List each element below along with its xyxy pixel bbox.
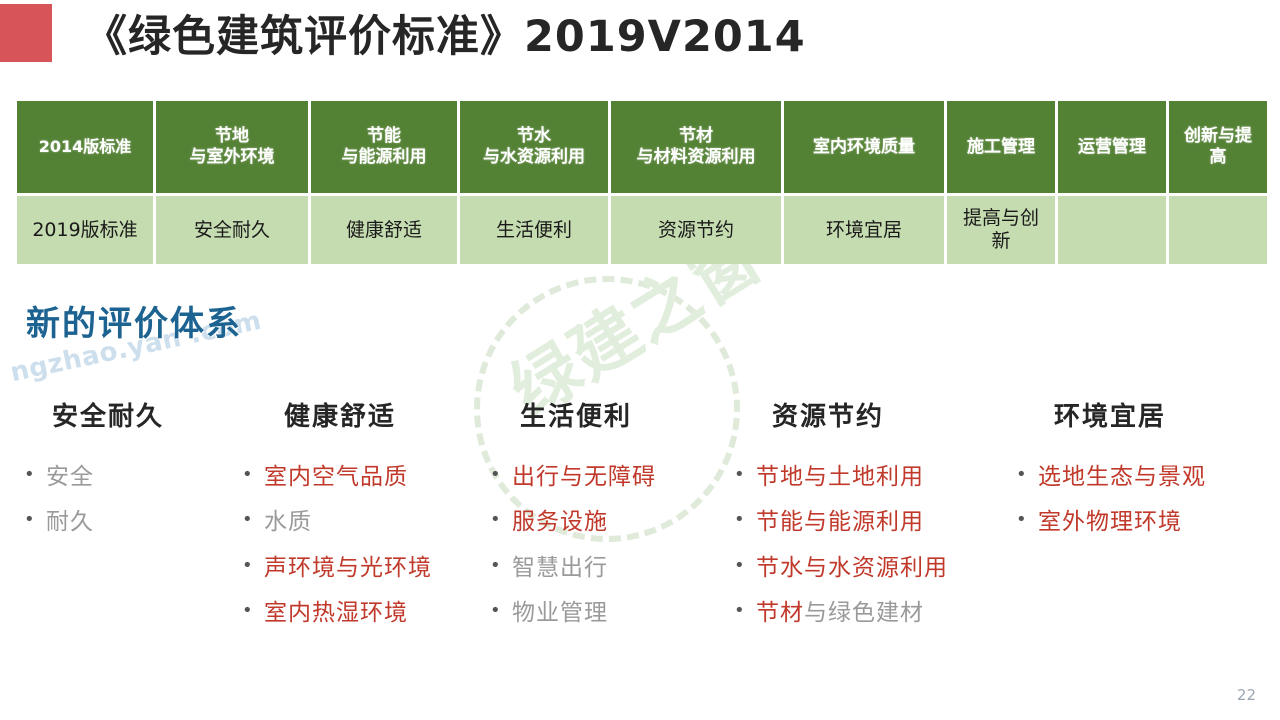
- list-item-label: 安全: [46, 465, 94, 490]
- table-body-cell: 资源节约: [611, 196, 781, 264]
- cell-line-1: 创新与提: [1172, 126, 1264, 147]
- category-title: 资源节约: [734, 396, 1016, 433]
- category-columns: 安全耐久 安全 耐久 健康舒适 室内空气品质: [24, 396, 1264, 646]
- title-accent-block: [0, 4, 52, 62]
- category-column-health: 健康舒适 室内空气品质 水质 声环境与光环境 室内热湿环境: [242, 396, 490, 646]
- list-item: 声环境与光环境: [242, 556, 490, 581]
- list-item-label: 耐久: [46, 510, 94, 535]
- list-item-label: 室内空气品质: [264, 465, 408, 490]
- category-item-list: 安全 耐久: [24, 465, 242, 536]
- list-item: 节能与能源利用: [734, 510, 1016, 535]
- list-item-label-highlight: 节材: [756, 600, 804, 626]
- list-item: 智慧出行: [490, 556, 734, 581]
- table-header-cell: 节能 与能源利用: [311, 101, 457, 193]
- table-header-cell: 创新与提 高: [1169, 101, 1267, 193]
- category-item-list: 节地与土地利用 节能与能源利用 节水与水资源利用 节材与绿色建材: [734, 465, 1016, 626]
- slide-canvas: 绿建之窗 ngzhao.yan .com 《绿色建筑评价标准》2019V2014…: [0, 0, 1280, 720]
- bullet-icon: [242, 466, 264, 484]
- list-item-label: 出行与无障碍: [512, 465, 656, 490]
- table-header-cell: 节水 与水资源利用: [460, 101, 608, 193]
- bullet-icon: [734, 511, 756, 529]
- bullet-icon: [490, 466, 512, 484]
- table-header-cell: 施工管理: [947, 101, 1055, 193]
- section-heading: 新的评价体系: [26, 296, 242, 345]
- category-title: 健康舒适: [242, 396, 490, 433]
- bullet-icon: [242, 602, 264, 620]
- table-body-cell: [1058, 196, 1166, 264]
- cell-line-1: 环境宜居: [787, 219, 941, 242]
- list-item: 室外物理环境: [1016, 510, 1264, 535]
- list-item-label: 物业管理: [512, 601, 608, 626]
- list-item: 安全: [24, 465, 242, 490]
- list-item: 节材与绿色建材: [734, 601, 1016, 626]
- cell-line-2: 与室外环境: [159, 147, 305, 168]
- list-item-label: 室内热湿环境: [264, 601, 408, 626]
- bullet-icon: [24, 511, 46, 529]
- table-header-cell: 运营管理: [1058, 101, 1166, 193]
- table-body-cell: 提高与创 新: [947, 196, 1055, 264]
- list-item: 服务设施: [490, 510, 734, 535]
- table-body-cell: 生活便利: [460, 196, 608, 264]
- list-item-label: 节能与能源利用: [756, 510, 924, 535]
- table-header-cell: 节材 与材料资源利用: [611, 101, 781, 193]
- page-title: 《绿色建筑评价标准》2019V2014: [84, 2, 806, 64]
- table-body-cell: 健康舒适: [311, 196, 457, 264]
- table-body-cell: [1169, 196, 1267, 264]
- cell-line-2: 与能源利用: [314, 147, 454, 168]
- table-row-body-2019: 2019版标准 安全耐久 健康舒适 生活便利 资源节约: [17, 196, 1267, 264]
- cell-line-2: 高: [1172, 147, 1264, 168]
- table-row-header-2014: 2014版标准 节地 与室外环境 节能 与能源利用 节水 与水资源利用 节材: [17, 101, 1267, 193]
- category-title: 环境宜居: [1016, 396, 1264, 433]
- bullet-icon: [242, 511, 264, 529]
- category-item-list: 出行与无障碍 服务设施 智慧出行 物业管理: [490, 465, 734, 626]
- cell-line-1: 2019版标准: [20, 219, 150, 242]
- table-body-cell: 2019版标准: [17, 196, 153, 264]
- list-item-label: 节水与水资源利用: [756, 556, 948, 581]
- bullet-icon: [490, 557, 512, 575]
- list-item-label: 室外物理环境: [1038, 510, 1182, 535]
- category-title: 安全耐久: [24, 396, 242, 433]
- cell-line-2: 与水资源利用: [463, 147, 605, 168]
- list-item-label: 智慧出行: [512, 556, 608, 581]
- list-item: 出行与无障碍: [490, 465, 734, 490]
- list-item: 室内热湿环境: [242, 601, 490, 626]
- bullet-icon: [24, 466, 46, 484]
- bullet-icon: [734, 557, 756, 575]
- list-item-label: 节地与土地利用: [756, 465, 924, 490]
- list-item-label-muted: 与绿色建材: [804, 600, 924, 626]
- list-item: 选地生态与景观: [1016, 465, 1264, 490]
- cell-line-2: 新: [950, 230, 1052, 253]
- cell-line-1: 室内环境质量: [787, 137, 941, 158]
- cell-line-1: 提高与创: [950, 207, 1052, 230]
- list-item: 耐久: [24, 510, 242, 535]
- bullet-icon: [490, 602, 512, 620]
- list-item: 物业管理: [490, 601, 734, 626]
- list-item: 节地与土地利用: [734, 465, 1016, 490]
- cell-line-1: 节材: [614, 126, 778, 147]
- cell-line-1: 节地: [159, 126, 305, 147]
- category-item-list: 选地生态与景观 室外物理环境: [1016, 465, 1264, 536]
- list-item-label: 节材与绿色建材: [756, 601, 924, 626]
- cell-line-1: 安全耐久: [159, 219, 305, 242]
- list-item-label: 选地生态与景观: [1038, 465, 1206, 490]
- list-item: 节水与水资源利用: [734, 556, 1016, 581]
- category-column-resource: 资源节约 节地与土地利用 节能与能源利用 节水与水资源利用 节材与绿色建材: [734, 396, 1016, 646]
- cell-line-1: 节能: [314, 126, 454, 147]
- table-header-cell: 室内环境质量: [784, 101, 944, 193]
- category-item-list: 室内空气品质 水质 声环境与光环境 室内热湿环境: [242, 465, 490, 626]
- table-body-cell: 环境宜居: [784, 196, 944, 264]
- bullet-icon: [1016, 511, 1038, 529]
- bullet-icon: [242, 557, 264, 575]
- bullet-icon: [734, 466, 756, 484]
- bullet-icon: [1016, 466, 1038, 484]
- bullet-icon: [490, 511, 512, 529]
- list-item: 室内空气品质: [242, 465, 490, 490]
- table-header-cell: 2014版标准: [17, 101, 153, 193]
- cell-line-1: 运营管理: [1061, 137, 1163, 158]
- table-body-cell: 安全耐久: [156, 196, 308, 264]
- table-header-cell: 节地 与室外环境: [156, 101, 308, 193]
- standards-comparison-table: 2014版标准 节地 与室外环境 节能 与能源利用 节水 与水资源利用 节材: [14, 98, 1270, 267]
- category-title: 生活便利: [490, 396, 734, 433]
- cell-line-1: 健康舒适: [314, 219, 454, 242]
- category-column-convenience: 生活便利 出行与无障碍 服务设施 智慧出行 物业管理: [490, 396, 734, 646]
- list-item-label: 水质: [264, 510, 312, 535]
- bullet-icon: [734, 602, 756, 620]
- category-column-environment: 环境宜居 选地生态与景观 室外物理环境: [1016, 396, 1264, 556]
- category-column-safety: 安全耐久 安全 耐久: [24, 396, 242, 556]
- cell-line-2: 与材料资源利用: [614, 147, 778, 168]
- cell-line-1: 施工管理: [950, 137, 1052, 158]
- cell-line-1: 节水: [463, 126, 605, 147]
- list-item-label: 服务设施: [512, 510, 608, 535]
- list-item-label: 声环境与光环境: [264, 556, 432, 581]
- cell-line-1: 2014版标准: [20, 137, 150, 157]
- cell-line-1: 资源节约: [614, 219, 778, 242]
- list-item: 水质: [242, 510, 490, 535]
- cell-line-1: 生活便利: [463, 219, 605, 242]
- page-number: 22: [1237, 686, 1256, 704]
